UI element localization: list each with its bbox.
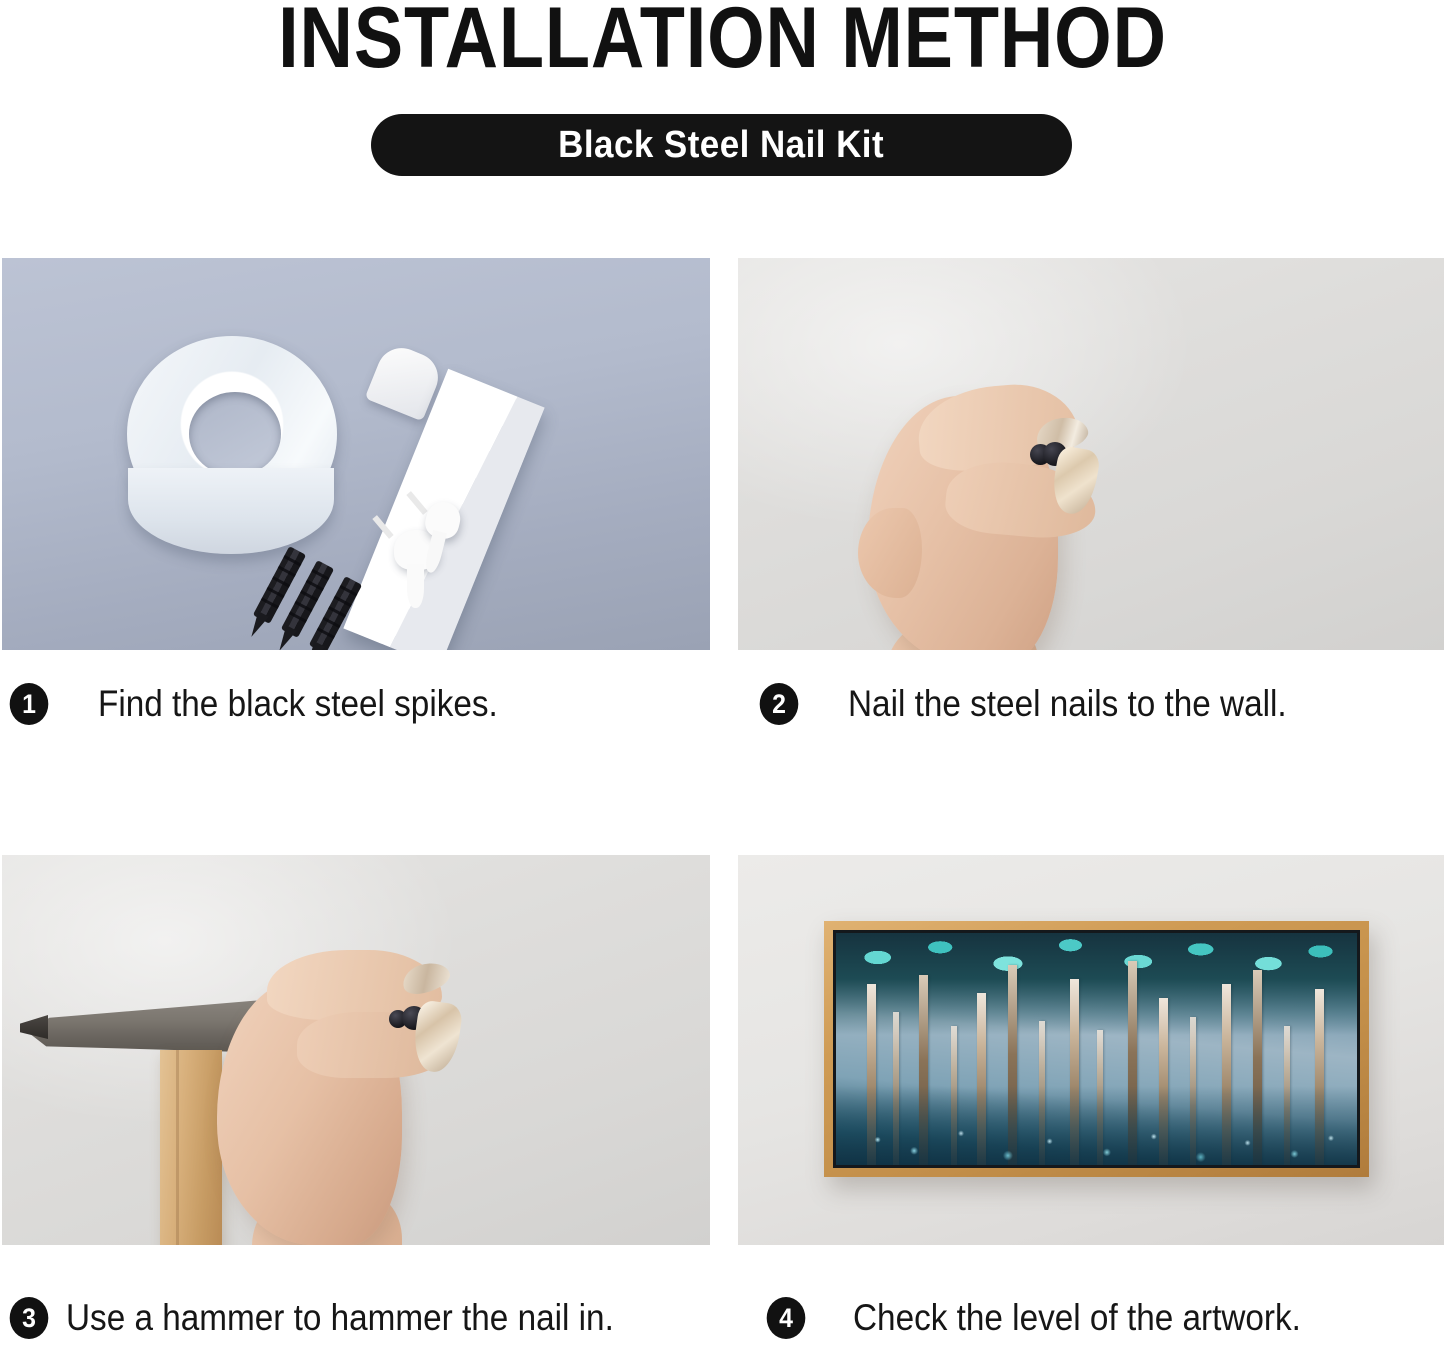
step-3-caption-text: Use a hammer to hammer the nail in. (66, 1297, 614, 1339)
step-4-number: 4 (767, 1297, 806, 1339)
step-1-photo (2, 258, 710, 650)
hand-holding-nail (197, 940, 537, 1245)
knuckle (858, 508, 922, 598)
canvas-canopy (836, 933, 1357, 1035)
page-title: INSTALLATION METHOD (101, 0, 1344, 90)
step-2-caption-text: Nail the steel nails to the wall. (848, 683, 1287, 725)
step-3-caption: 3 Use a hammer to hammer the nail in. (8, 1297, 675, 1339)
step-3-number: 3 (10, 1297, 49, 1339)
hand-holding-nail (858, 378, 1188, 650)
step-4-caption-text: Check the level of the artwork. (853, 1297, 1301, 1339)
subtitle-badge: Black Steel Nail Kit (371, 114, 1072, 176)
step-2-caption: 2 Nail the steel nails to the wall. (758, 683, 1335, 725)
step-1-number: 1 (10, 683, 49, 725)
step-1-caption: 1 Find the black steel spikes. (8, 683, 542, 725)
canvas-foreground-sparkle (836, 1086, 1357, 1165)
step-1-caption-text: Find the black steel spikes. (98, 683, 498, 725)
step-3-photo (2, 855, 710, 1245)
artwork-frame (824, 921, 1369, 1177)
step-2-photo (738, 258, 1444, 650)
artwork-canvas (833, 930, 1360, 1168)
subtitle-badge-label: Black Steel Nail Kit (559, 124, 885, 167)
step-4-caption: 4 Check the level of the artwork. (765, 1297, 1351, 1339)
step-2-number: 2 (760, 683, 799, 725)
installation-method-infographic: INSTALLATION METHOD Black Steel Nail Kit (0, 0, 1445, 1350)
step-4-photo (738, 855, 1444, 1245)
